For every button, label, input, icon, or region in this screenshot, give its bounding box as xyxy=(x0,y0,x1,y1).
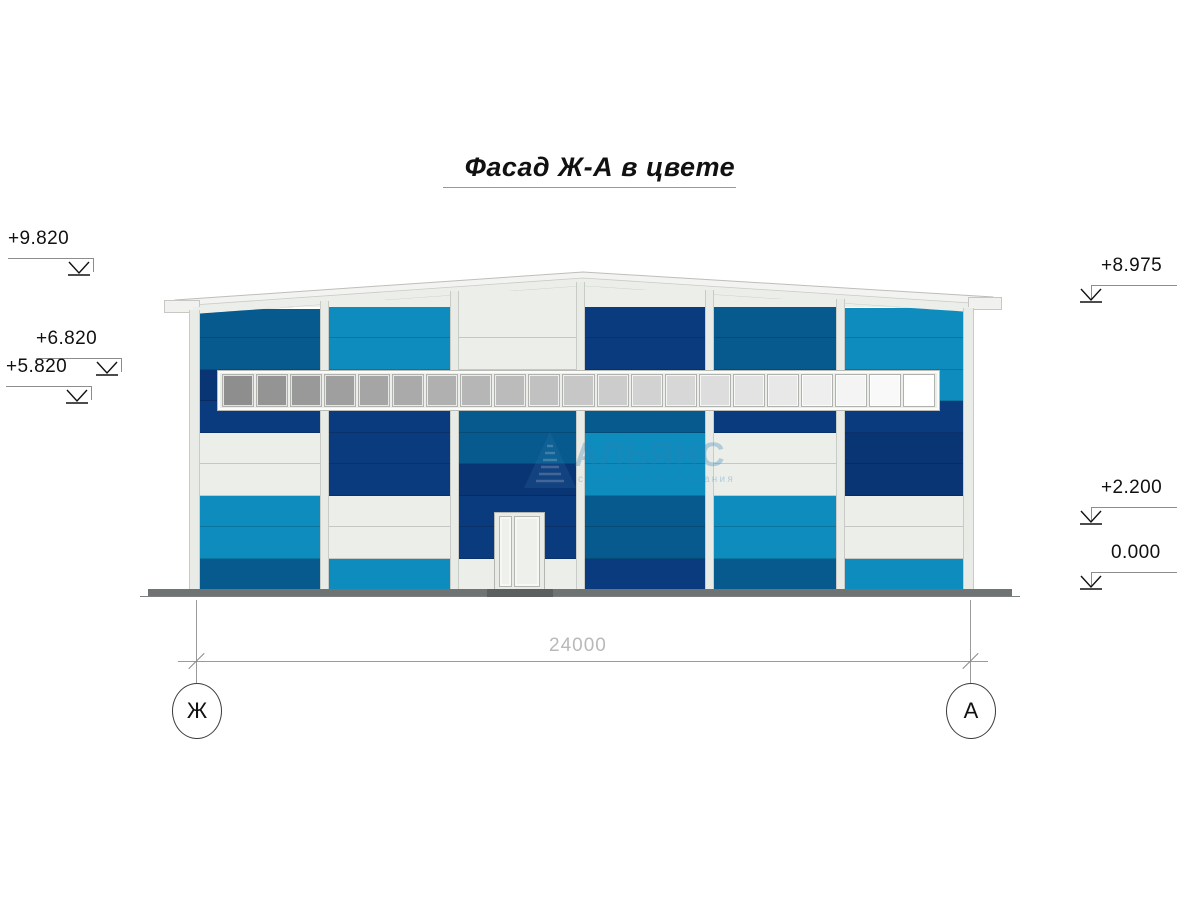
window-pane xyxy=(733,374,765,407)
level-label: +5.820 xyxy=(6,356,67,378)
level-arrow-icon xyxy=(94,360,120,378)
axis-extension-line xyxy=(970,600,971,683)
level-arrow-icon xyxy=(1078,574,1104,592)
window-pane xyxy=(767,374,799,407)
column-divider xyxy=(963,308,974,590)
door-step xyxy=(487,589,553,597)
level-leader-line xyxy=(1091,285,1177,286)
level-label: +6.820 xyxy=(36,328,97,350)
axis-bubble-Ж[interactable]: Ж xyxy=(172,683,222,739)
level-leader-line xyxy=(1091,507,1177,508)
ground-line xyxy=(140,596,1020,597)
window-pane xyxy=(222,374,254,407)
level-leader-drop xyxy=(121,358,122,372)
level-leader-drop xyxy=(93,258,94,272)
window-pane xyxy=(562,374,594,407)
window-pane xyxy=(426,374,458,407)
level-leader-drop xyxy=(91,386,92,400)
level-label: +2.200 xyxy=(1101,477,1162,499)
axis-bubble-А[interactable]: А xyxy=(946,683,996,739)
window-pane xyxy=(665,374,697,407)
window-pane xyxy=(699,374,731,407)
axis-extension-line xyxy=(196,600,197,683)
window-pane xyxy=(358,374,390,407)
level-arrow-icon xyxy=(1078,509,1104,527)
dimension-line xyxy=(178,661,988,662)
door-leaf-wide[interactable] xyxy=(514,516,540,587)
column-divider xyxy=(705,290,714,590)
ribbon-window-strip xyxy=(217,370,940,411)
door-leaf-narrow[interactable] xyxy=(499,516,512,587)
level-leader-line xyxy=(8,258,93,259)
window-pane xyxy=(597,374,629,407)
window-pane xyxy=(290,374,322,407)
elevation-drawing-canvas: Фасад Ж-А в цвете АЛЬЯНСстроительная ком… xyxy=(0,0,1200,900)
column-divider xyxy=(320,301,329,590)
level-label: +9.820 xyxy=(8,228,69,250)
axis-bubble-label: Ж xyxy=(187,698,207,724)
level-label: 0.000 xyxy=(1111,542,1161,564)
column-divider xyxy=(189,310,200,590)
window-pane xyxy=(835,374,867,407)
column-divider xyxy=(576,282,585,590)
level-arrow-icon xyxy=(1078,287,1104,305)
window-pane xyxy=(324,374,356,407)
level-arrow-icon xyxy=(66,260,92,278)
level-label: +8.975 xyxy=(1101,255,1162,277)
ground-plinth xyxy=(148,589,1012,596)
column-divider xyxy=(836,299,845,590)
axis-bubble-label: А xyxy=(964,698,979,724)
window-pane xyxy=(392,374,424,407)
level-arrow-icon xyxy=(64,388,90,406)
window-pane xyxy=(869,374,901,407)
dimension-value: 24000 xyxy=(549,635,607,657)
entry-door[interactable] xyxy=(494,512,545,591)
window-pane xyxy=(528,374,560,407)
column-divider xyxy=(450,291,459,590)
window-pane xyxy=(256,374,288,407)
window-pane xyxy=(903,374,935,407)
window-pane xyxy=(801,374,833,407)
window-pane xyxy=(631,374,663,407)
window-pane xyxy=(494,374,526,407)
level-leader-line xyxy=(1091,572,1177,573)
window-pane xyxy=(460,374,492,407)
level-leader-line xyxy=(6,386,91,387)
